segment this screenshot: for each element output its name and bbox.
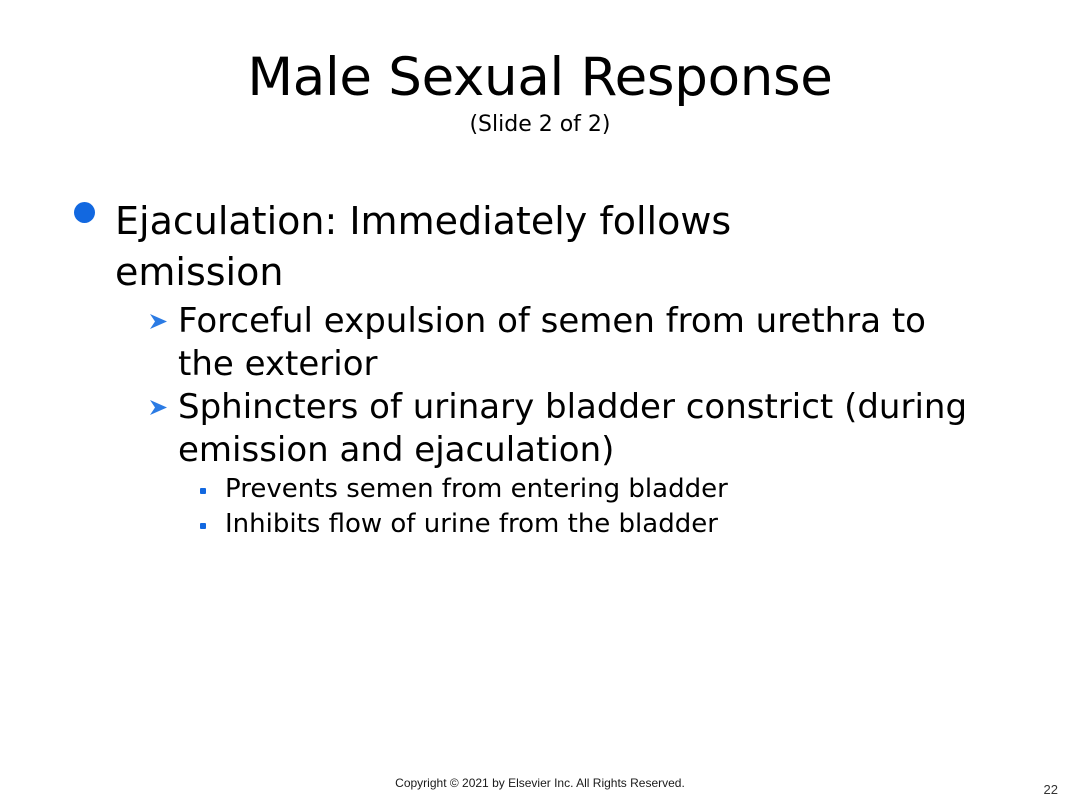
bullet-level2-text: Sphincters of urinary bladder constrict … bbox=[178, 386, 978, 472]
page-subtitle: (Slide 2 of 2) bbox=[0, 112, 1080, 138]
round-bullet-icon bbox=[74, 196, 115, 223]
small-dot-bullet-icon bbox=[200, 507, 225, 529]
bullet-level1: Ejaculation: Immediately follows emissio… bbox=[74, 196, 1014, 298]
bullet-level3-text: Prevents semen from entering bladder bbox=[225, 472, 728, 507]
arrow-bullet-icon bbox=[148, 300, 178, 332]
bullet-level1-text: Ejaculation: Immediately follows emissio… bbox=[115, 196, 815, 298]
page-number: 22 bbox=[1044, 782, 1058, 798]
bullet-level2-text: Forceful expulsion of semen from urethra… bbox=[178, 300, 978, 386]
bullet-level3: Inhibits flow of urine from the bladder bbox=[200, 507, 1014, 542]
copyright-notice: Copyright © 2021 by Elsevier Inc. All Ri… bbox=[0, 775, 1080, 791]
bullet-level2: Sphincters of urinary bladder constrict … bbox=[148, 386, 1014, 472]
title-block: Male Sexual Response (Slide 2 of 2) bbox=[0, 48, 1080, 138]
bullet-level2: Forceful expulsion of semen from urethra… bbox=[148, 300, 1014, 386]
slide-canvas: Male Sexual Response (Slide 2 of 2) Ejac… bbox=[0, 0, 1080, 810]
slide-body: Ejaculation: Immediately follows emissio… bbox=[74, 196, 1014, 542]
bullet-level3-text: Inhibits flow of urine from the bladder bbox=[225, 507, 718, 542]
bullet-level3: Prevents semen from entering bladder bbox=[200, 472, 1014, 507]
arrow-bullet-icon bbox=[148, 386, 178, 418]
page-title: Male Sexual Response bbox=[0, 48, 1080, 108]
small-dot-bullet-icon bbox=[200, 472, 225, 494]
